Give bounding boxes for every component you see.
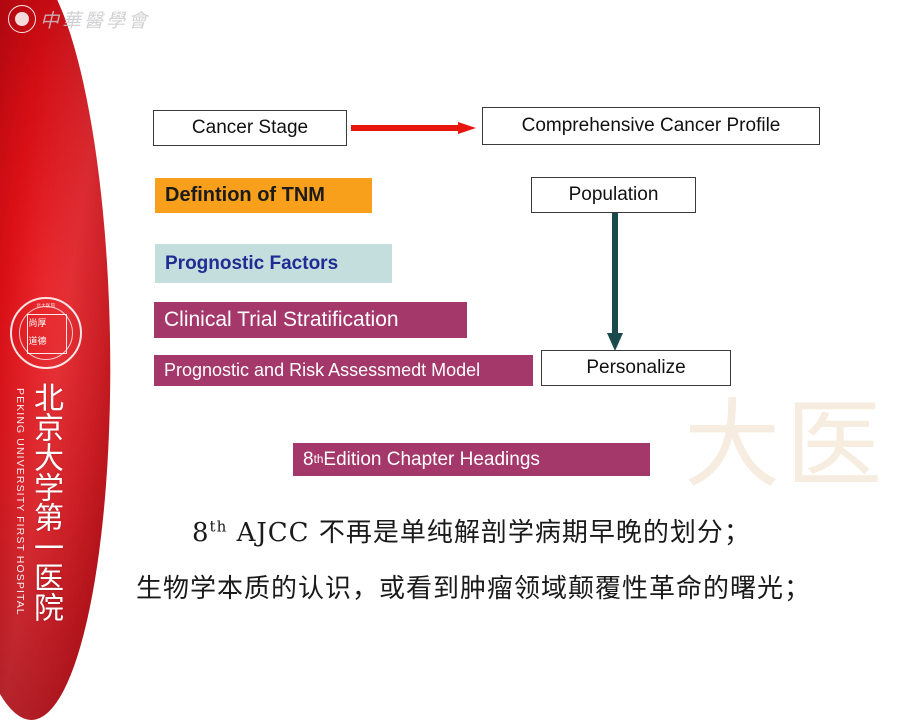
box-personalize[interactable]: Personalize <box>541 350 731 386</box>
arrow-population-to-personalize-icon <box>607 213 624 351</box>
arrow-shaft <box>351 125 459 131</box>
chapter-label: Edition Chapter Headings <box>323 449 540 471</box>
arrow-stage-to-profile-icon <box>351 122 476 133</box>
box-prognostic-risk-model[interactable]: Prognostic and Risk Assessmedt Model <box>154 355 533 386</box>
box-cancer-stage-label: Cancer Stage <box>192 117 308 139</box>
box-personalize-label: Personalize <box>586 357 685 379</box>
sidebar-chinese-name: 北京大学第一医院 <box>28 382 62 622</box>
box-chapter-headings[interactable]: 8th Edition Chapter Headings <box>293 443 650 476</box>
sidebar-english-name: PEKING UNIVERSITY FIRST HOSPITAL <box>14 388 26 616</box>
line1-text: AJCC 不再是单纯解剖学病期早晚的划分； <box>227 518 751 548</box>
box-tnm-label: Defintion of TNM <box>165 184 325 207</box>
hospital-seal-icon: 北大医院 尚厚道德 <box>10 297 82 369</box>
box-comprehensive-cancer-profile[interactable]: Comprehensive Cancer Profile <box>482 107 820 145</box>
seal-ring-top-text: 北大医院 <box>12 303 80 309</box>
box-prognostic-factors-label: Prognostic Factors <box>165 253 338 275</box>
box-definition-of-tnm[interactable]: Defintion of TNM <box>155 178 372 213</box>
body-text-line-2: 生物学本质的认识，或看到肿瘤领域颠覆性革命的曙光； <box>136 568 811 605</box>
box-prognostic-factors[interactable]: Prognostic Factors <box>155 244 392 283</box>
seal-core-text: 尚厚道德 <box>27 314 67 354</box>
arrow-shaft <box>612 213 618 335</box>
box-cancer-stage[interactable]: Cancer Stage <box>153 110 347 146</box>
box-population-label: Population <box>569 184 659 206</box>
chapter-ordinal-suffix: th <box>314 453 324 466</box>
arrow-head <box>458 122 476 134</box>
line1-ordinal-suffix: th <box>210 517 228 535</box>
chapter-number: 8 <box>303 449 314 471</box>
box-profile-label: Comprehensive Cancer Profile <box>522 115 781 137</box>
body-text-line-1: 8th AJCC 不再是单纯解剖学病期早晚的划分； <box>192 512 751 549</box>
arrow-head <box>607 333 623 351</box>
box-risk-label: Prognostic and Risk Assessmedt Model <box>164 360 480 381</box>
box-clinical-label: Clinical Trial Stratification <box>164 308 399 332</box>
cma-logo-icon <box>8 5 36 33</box>
box-clinical-trial-stratification[interactable]: Clinical Trial Stratification <box>154 302 467 338</box>
cma-calligraphy-text: 中華醫學會 <box>40 6 150 33</box>
box-population[interactable]: Population <box>531 177 696 213</box>
line1-number: 8 <box>192 518 210 548</box>
slide-canvas: 北大医院 尚厚道德 PEKING UNIVERSITY FIRST HOSPIT… <box>0 0 900 675</box>
